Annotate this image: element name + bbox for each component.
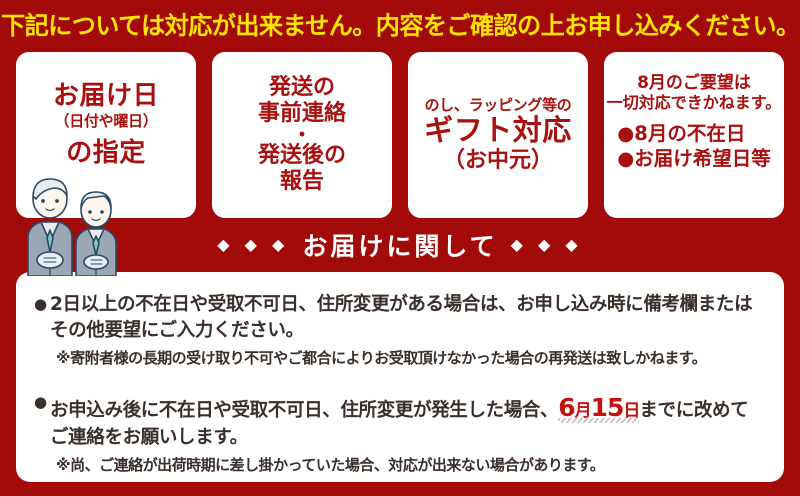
delivery-info-panel: ● 2日以上の不在日や受取不可日、住所変更がある場合は、お申し込み時に備考欄また… (16, 272, 784, 482)
card4-line1: 8月のご要望は (637, 74, 751, 93)
item2-text-before: お申込み後に不在日や受取不可日、住所変更が発生した場合、 (50, 400, 558, 421)
item2-text-line2: ご連絡をお願いします。 (50, 427, 248, 448)
card-delivery-date-designation: お届け日 （日付や曜日） の指定 (16, 52, 196, 218)
card1-line2: （日付や曜日） (55, 113, 158, 130)
item1-text-line2: その他要望にご入力ください。 (50, 320, 304, 341)
item2-note: ※尚、ご連絡が出荷時期に差し掛かっていた場合、対応が出来ない場合があります。 (56, 455, 766, 475)
bullet-icon: ● (34, 292, 50, 316)
card4-bullet-list: ●8月の不在日 ●お届け希望日等 (617, 122, 771, 172)
restriction-cards: お届け日 （日付や曜日） の指定 発送の 事前連絡 ・ 発送後の 報告 のし、ラ… (0, 52, 800, 218)
section-title: お届けに関して (302, 227, 497, 263)
card2-line1: 発送の (269, 75, 335, 101)
header-banner: 下記については対応が出来ません。内容をご確認の上お申し込みください。 (0, 0, 800, 52)
list-item-post-application-contact: ● お申込み後に不在日や受取不可日、住所変更が発生した場合、6月15日までに改め… (34, 390, 766, 475)
header-title: 下記については対応が出来ません。内容をご確認の上お申し込みください。 (1, 14, 799, 39)
item1-text-line1: 2日以上の不在日や受取不可日、住所変更がある場合は、お申し込み時に備考欄または (50, 294, 752, 315)
panel-spacer (34, 376, 766, 390)
card-august-requests: 8月のご要望は 一切対応できかねます。 ●8月の不在日 ●お届け希望日等 (604, 52, 784, 218)
bullet-icon: ● (34, 390, 50, 414)
card1-line1: お届け日 (53, 82, 159, 111)
card4-bullet-1: ●8月の不在日 (617, 122, 771, 147)
card4-bullet-2: ●お届け希望日等 (617, 147, 771, 172)
card3-line3: （お中元） (443, 149, 553, 174)
section-header: ◆ ◆ ◆ お届けに関して ◆ ◆ ◆ (0, 218, 800, 272)
diamond-left-icon: ◆ ◆ ◆ (217, 237, 289, 253)
card1-line3: の指定 (66, 139, 146, 168)
card2-line3: ・ (292, 127, 311, 143)
list-item-absence-address-change: ● 2日以上の不在日や受取不可日、住所変更がある場合は、お申し込み時に備考欄また… (34, 292, 766, 368)
deadline-day: 15 (591, 393, 624, 422)
card2-line4: 発送後の (258, 143, 346, 169)
diamond-right-icon: ◆ ◆ ◆ (511, 237, 583, 253)
card3-line2: ギフト対応 (424, 114, 572, 146)
deadline-date: 6月15日 (558, 393, 639, 423)
card-gift-wrapping: のし、ラッピング等の ギフト対応 （お中元） (408, 52, 588, 218)
deadline-month-unit: 月 (575, 401, 591, 421)
deadline-day-unit: 日 (623, 401, 639, 421)
card3-line1: のし、ラッピング等の (424, 97, 571, 114)
item2-text-after: までに改めて (639, 400, 748, 421)
card2-line5: 報告 (280, 169, 324, 195)
deadline-month: 6 (558, 393, 574, 422)
card4-line2: 一切対応できかねます。 (607, 94, 781, 112)
item1-note: ※寄附者様の長期の受け取り不可やご都合によりお受取頂けなかった場合の再発送は致し… (56, 348, 766, 368)
card-shipping-notice: 発送の 事前連絡 ・ 発送後の 報告 (212, 52, 392, 218)
